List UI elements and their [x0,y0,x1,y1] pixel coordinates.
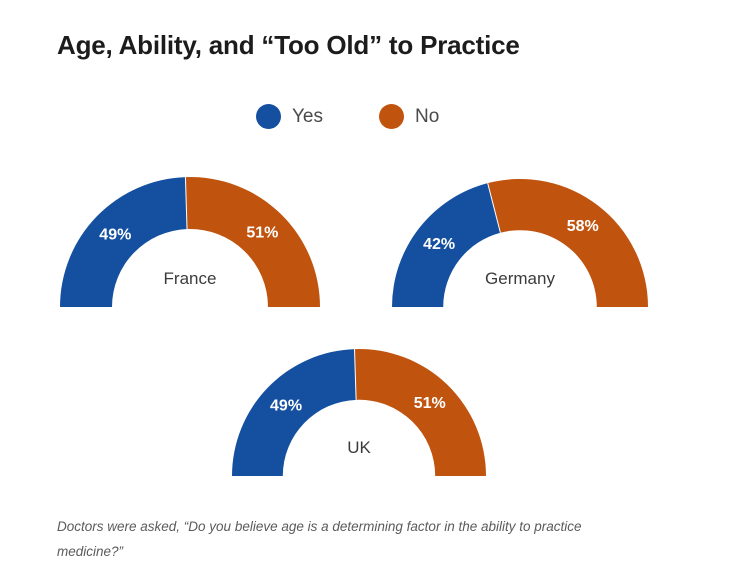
circle-swatch-icon [256,104,281,129]
legend-label-no: No [415,107,439,126]
chart-page: Age, Ability, and “Too Old” to Practice … [0,0,739,588]
legend-item-yes[interactable]: Yes [256,104,323,129]
gauge-france[interactable]: 49%51% France [60,177,320,307]
gauge-value-yes: 42% [423,236,455,253]
gauge-value-no: 58% [567,218,599,235]
gauge-value-yes: 49% [270,397,302,414]
gauge-uk[interactable]: 49%51% UK [232,346,486,476]
gauge-value-no: 51% [414,395,446,412]
gauge-uk-label: UK [232,438,486,458]
chart-legend: Yes No [256,104,439,129]
gauge-france-label: France [60,269,320,289]
gauge-germany[interactable]: 42%58% Germany [392,177,648,307]
legend-item-no[interactable]: No [379,104,439,129]
gauge-value-no: 51% [246,224,278,241]
circle-swatch-icon [379,104,404,129]
gauge-value-yes: 49% [99,227,131,244]
chart-footnote: Doctors were asked, “Do you believe age … [57,515,617,565]
page-title: Age, Ability, and “Too Old” to Practice [57,30,520,61]
legend-label-yes: Yes [292,107,323,126]
gauge-germany-label: Germany [392,269,648,289]
